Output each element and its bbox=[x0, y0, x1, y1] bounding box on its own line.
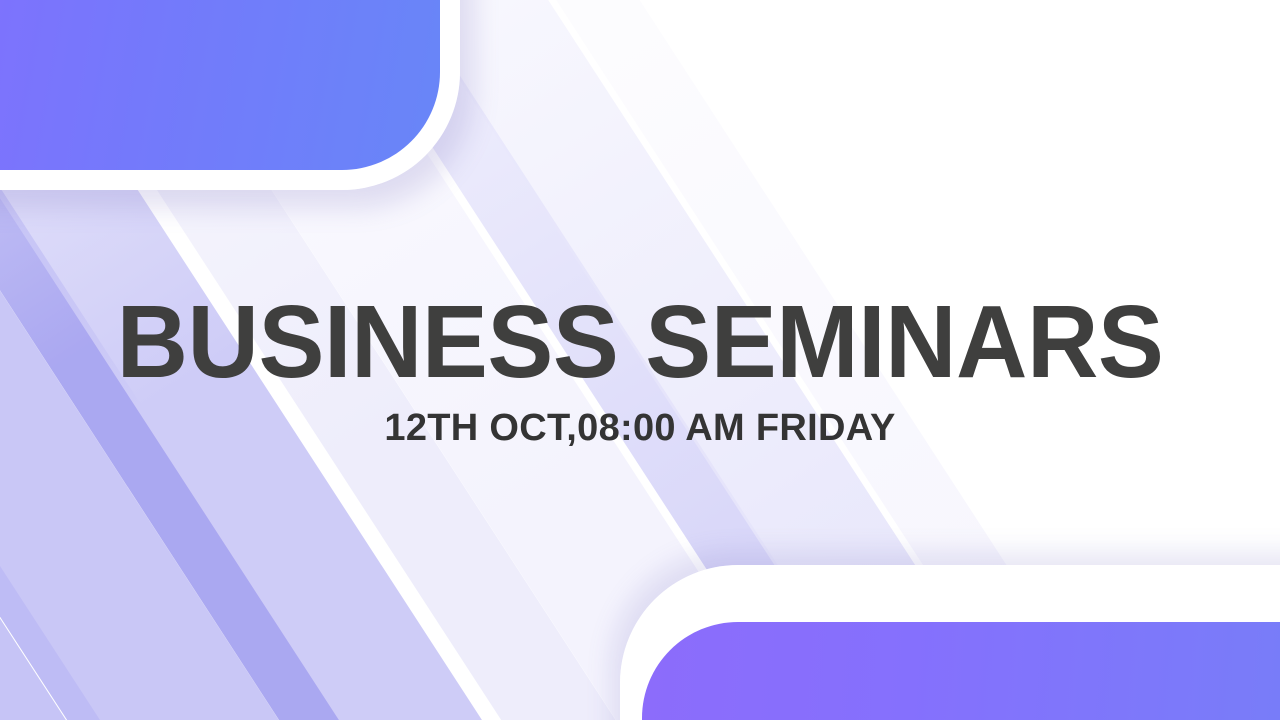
event-title: BUSINESS SEMINARS bbox=[26, 290, 1255, 393]
top-left-panel-gradient-fill bbox=[0, 0, 440, 170]
event-poster: BUSINESS SEMINARS 12TH OCT,08:00 AM FRID… bbox=[0, 0, 1280, 720]
poster-text-block: BUSINESS SEMINARS 12TH OCT,08:00 AM FRID… bbox=[0, 290, 1280, 447]
event-datetime-subtitle: 12TH OCT,08:00 AM FRIDAY bbox=[0, 409, 1280, 447]
top-left-rounded-panel bbox=[0, 0, 460, 190]
bottom-right-panel-gradient-fill bbox=[642, 622, 1280, 720]
bottom-right-rounded-panel bbox=[620, 565, 1280, 720]
